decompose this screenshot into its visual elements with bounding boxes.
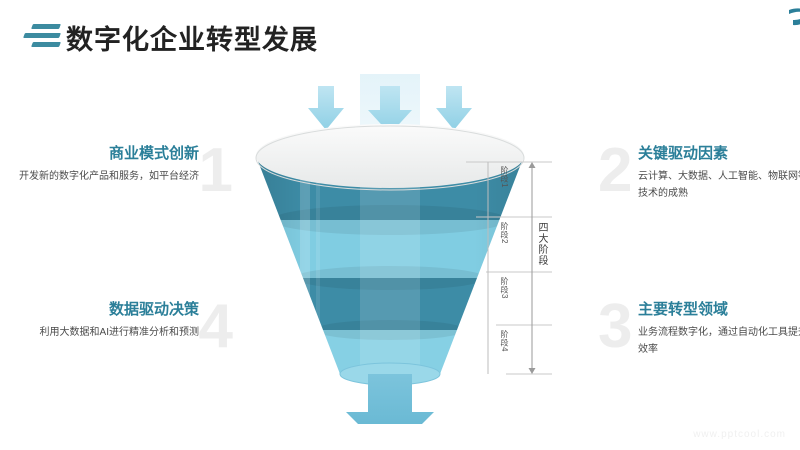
stage-label-3: 阶段3 xyxy=(494,277,510,299)
stage-label-2: 阶段2 xyxy=(494,222,510,244)
info-block-2: 2 关键驱动因素 云计算、大数据、人工智能、物联网等技术的成熟 xyxy=(598,142,800,202)
block-number-4: 4 xyxy=(199,296,233,358)
stage-axis-lines xyxy=(466,160,576,380)
page-title: 数字化企业转型发展 xyxy=(66,18,318,57)
info-block-1: 1 商业模式创新 开发新的数字化产品和服务，如平台经济 xyxy=(18,142,233,186)
three-bars-icon xyxy=(22,22,66,50)
stage-label-1: 阶段1 xyxy=(494,166,510,188)
info-block-3: 3 主要转型领域 业务流程数字化，通过自动化工具提升效率 xyxy=(598,298,800,358)
axis-title: 四大阶段 xyxy=(534,222,549,266)
span-arrow-bottom xyxy=(529,368,536,374)
watermark: www.pptcool.com xyxy=(693,429,786,440)
stage-axis: 阶段1 阶段2 阶段3 阶段4 四大阶段 xyxy=(466,160,576,380)
block-number-3: 3 xyxy=(598,296,632,358)
header: 数字化企业转型发展 PPT 版式库 职场PPT一站式服务平台 xyxy=(0,0,800,62)
info-block-4: 4 数据驱动决策 利用大数据和AI进行精准分析和预测 xyxy=(18,298,233,342)
block-number-2: 2 xyxy=(598,140,632,202)
span-arrow-top xyxy=(529,162,536,168)
logo-swoosh-icon xyxy=(788,7,800,27)
inflow-arrow-left xyxy=(308,86,344,130)
block-number-1: 1 xyxy=(199,140,233,202)
stage-label-4: 阶段4 xyxy=(494,330,510,352)
inflow-arrow-right xyxy=(436,86,472,130)
logo-p-icon xyxy=(788,7,800,27)
